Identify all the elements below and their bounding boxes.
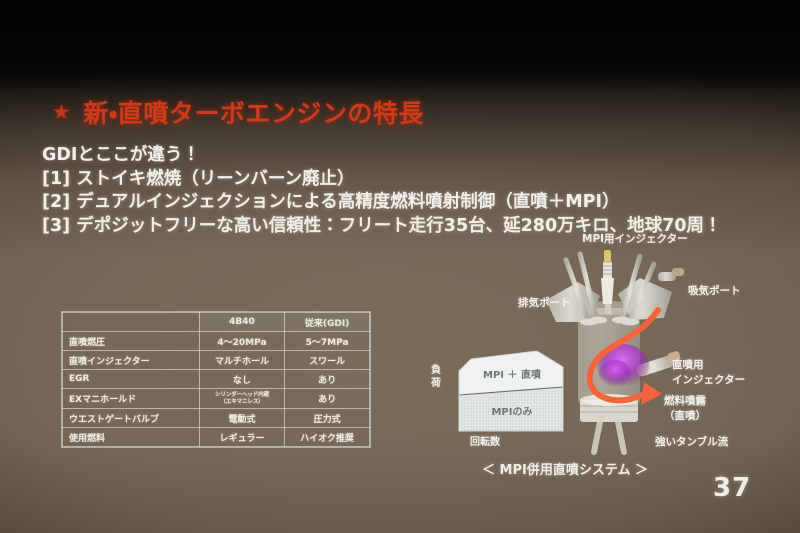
- cell-new-line2: （エキマニレス）: [220, 399, 263, 405]
- engine-cutaway-illustration: [540, 248, 690, 458]
- bullet-item-1: [1] ストイキ燃焼（リーンバーン廃止）: [42, 168, 722, 192]
- table-row: EGR なし あり: [63, 370, 370, 389]
- page-number: 37: [713, 473, 751, 503]
- table-row: ウエストゲートバルブ 電動式 圧力式: [63, 409, 370, 428]
- label-intake-port: 吸気ポート: [688, 284, 741, 298]
- table-header-new: 4B40: [199, 313, 284, 332]
- cell-new: 4〜20MPa: [199, 332, 284, 351]
- piston: [580, 394, 638, 452]
- cell-old: ハイオク推奨: [285, 428, 370, 447]
- row-label: 直噴燃圧: [63, 332, 200, 351]
- table-row: 直噴インジェクター マルチホール スワール: [63, 351, 370, 370]
- cell-new: なし: [199, 370, 284, 389]
- table-header-old: 従来(GDI): [285, 313, 370, 332]
- bullet-list: GDIとここが違う！ [1] ストイキ燃焼（リーンバーン廃止） [2] デュアル…: [42, 144, 722, 238]
- label-di-injector-line1: 直噴用: [672, 359, 704, 371]
- diagram-caption: ＜ MPI併用直噴システム ＞: [440, 459, 690, 478]
- cell-old: 5〜7MPa: [285, 332, 370, 351]
- chart-label-mpi-plus-di: MPI ＋ 直噴: [483, 368, 542, 381]
- row-label: 直噴インジェクター: [63, 351, 200, 370]
- spec-table-wrapper: 4B40 従来(GDI) 直噴燃圧 4〜20MPa 5〜7MPa 直噴インジェク…: [62, 312, 370, 447]
- cell-new: シリンダーヘッド内蔵 （エキマニレス）: [199, 389, 284, 409]
- cell-old: スワール: [285, 351, 370, 370]
- row-label: 使用燃料: [63, 428, 200, 447]
- page-title: ★ 新・直噴ターボエンジンの特長: [52, 94, 424, 130]
- cell-old: あり: [285, 370, 370, 389]
- label-tumble-flow: 強いタンブル流: [655, 435, 728, 449]
- label-di-injector-line2: インジェクター: [672, 374, 745, 386]
- cell-new-line1: シリンダーヘッド内蔵: [215, 392, 269, 398]
- cell-old: 圧力式: [285, 409, 370, 428]
- row-label: ウエストゲートバルブ: [63, 409, 200, 428]
- page-title-text: 新・直噴ターボエンジンの特長: [83, 94, 424, 130]
- chart-label-mpi-only: MPIのみ: [491, 406, 532, 418]
- star-icon: ★: [52, 102, 71, 123]
- label-fuel-spray-line2: （直噴）: [664, 410, 706, 422]
- row-label: EXマニホールド: [63, 389, 200, 409]
- cell-new: マルチホール: [199, 351, 284, 370]
- table-row: EXマニホールド シリンダーヘッド内蔵 （エキマニレス） あり: [63, 389, 370, 409]
- slide-content: ★ 新・直噴ターボエンジンの特長 GDIとここが違う！ [1] ストイキ燃焼（リ…: [0, 0, 800, 533]
- mpi-injector-icon: [658, 268, 684, 281]
- cell-old: あり: [285, 389, 370, 409]
- engine-svg: [540, 248, 690, 458]
- row-label: EGR: [63, 370, 200, 389]
- label-fuel-spray: 燃料噴霧 （直噴）: [664, 394, 706, 424]
- projected-slide-photo: ★ 新・直噴ターボエンジンの特長 GDIとここが違う！ [1] ストイキ燃焼（リ…: [0, 0, 800, 533]
- table-header-row: 4B40 従来(GDI): [63, 313, 370, 332]
- cell-new: レギュラー: [199, 428, 284, 447]
- bullet-lead: GDIとここが違う！: [42, 144, 722, 168]
- cell-new: 電動式: [199, 409, 284, 428]
- spec-table: 4B40 従来(GDI) 直噴燃圧 4〜20MPa 5〜7MPa 直噴インジェク…: [62, 312, 370, 447]
- table-header-corner: [63, 313, 200, 332]
- bullet-item-2: [2] デュアルインジェクションによる高精度燃料噴射制御（直噴＋MPI）: [42, 191, 722, 215]
- label-fuel-spray-line1: 燃料噴霧: [664, 395, 706, 407]
- table-row: 使用燃料 レギュラー ハイオク推奨: [63, 428, 370, 447]
- chart-ylabel: 負荷: [428, 364, 444, 390]
- label-mpi-injector: MPI用インジェクター: [582, 232, 688, 246]
- table-row: 直噴燃圧 4〜20MPa 5〜7MPa: [63, 332, 370, 351]
- label-exhaust-port: 排気ポート: [518, 296, 571, 310]
- label-di-injector: 直噴用 インジェクター: [672, 358, 745, 388]
